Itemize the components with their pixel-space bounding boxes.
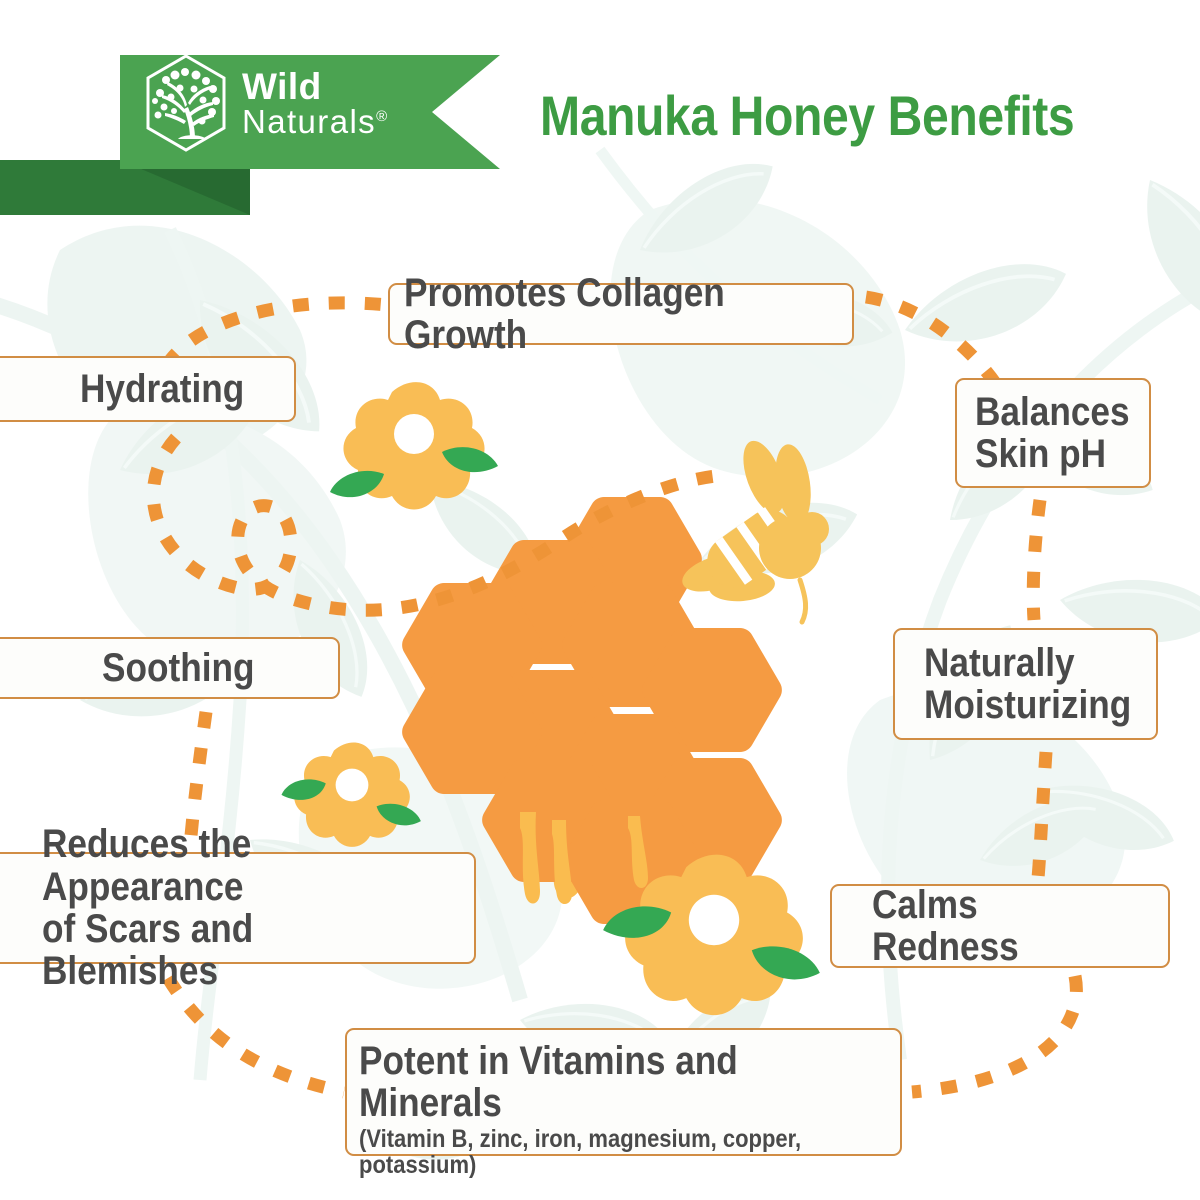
connector-ph-moisturizing [1033, 500, 1040, 620]
benefit-label: Naturally Moisturizing [924, 642, 1128, 727]
page-title: Manuka Honey Benefits [540, 83, 1090, 148]
benefit-box-reduces-scars[interactable]: Reduces the Appearance of Scars and Blem… [0, 852, 476, 964]
header-banner: Wild Naturals® Manuka Honey Benefits [0, 0, 1200, 225]
connector-collagen-ph [866, 297, 1000, 390]
infographic-canvas: Wild Naturals® Manuka Honey Benefits [0, 0, 1200, 1200]
connector-calms-potent [912, 976, 1076, 1092]
benefit-sublabel: (Vitamin B, zinc, iron, magnesium, coppe… [359, 1126, 835, 1179]
benefit-label: Promotes Collagen Growth [404, 272, 798, 357]
benefit-label: Balances Skin pH [975, 391, 1128, 476]
hexagon-tree-icon [140, 51, 232, 155]
benefit-box-soothing[interactable]: Soothing [0, 637, 340, 699]
benefit-box-balances-skin-ph[interactable]: Balances Skin pH [955, 378, 1151, 488]
benefit-label: Hydrating [80, 368, 268, 410]
benefit-label: Calms Redness [872, 884, 1132, 969]
benefit-box-hydrating[interactable]: Hydrating [0, 356, 296, 422]
connector-hydrating-loop [153, 438, 716, 610]
benefit-label: Reduces the Appearance of Scars and Blem… [42, 823, 422, 993]
benefit-box-calms-redness[interactable]: Calms Redness [830, 884, 1170, 968]
brand-logo: Wild Naturals® [140, 48, 430, 158]
logo-line2-text: Naturals [242, 103, 376, 140]
logo-line1-text: Wild [242, 66, 322, 107]
benefit-box-collagen[interactable]: Promotes Collagen Growth [388, 283, 854, 345]
benefit-box-naturally-moisturizing[interactable]: Naturally Moisturizing [893, 628, 1158, 740]
connector-moisturizing-calms [1038, 752, 1046, 878]
connector-scars-potent [168, 978, 344, 1092]
benefit-label: Potent in Vitamins and Minerals [359, 1040, 835, 1125]
registered-trademark-icon: ® [376, 108, 388, 125]
benefit-label: Soothing [102, 647, 310, 689]
benefit-box-potent-vitamins[interactable]: Potent in Vitamins and Minerals (Vitamin… [345, 1028, 902, 1156]
